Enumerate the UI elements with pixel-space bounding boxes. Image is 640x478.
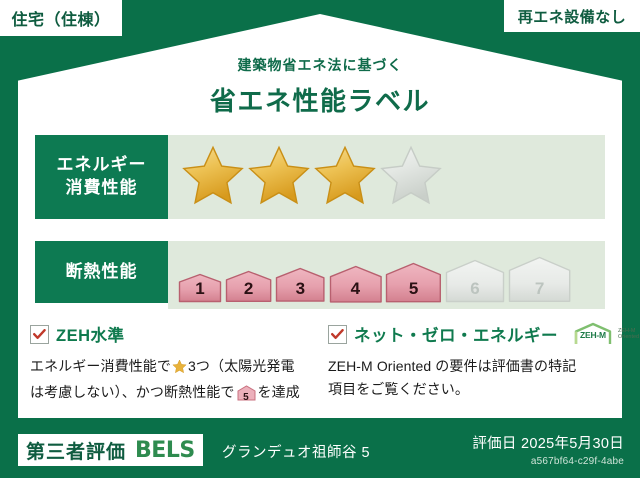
insulation-grade-number: 4 <box>329 279 383 299</box>
insulation-grade-number: 1 <box>178 279 222 299</box>
nze-note-body: ZEH-M Oriented の要件は評価書の特記項目をご覧ください。 <box>328 355 606 400</box>
insulation-grade-number: 6 <box>445 279 505 299</box>
bels-jp-text: 第三者評価 <box>26 437 126 464</box>
insulation-label-line1: 断熱性能 <box>66 261 138 284</box>
star-filled-icon <box>248 144 310 211</box>
insulation-grade-5: 5 <box>385 262 442 303</box>
bels-badge: 第三者評価 BELS <box>18 434 203 466</box>
insulation-performance-label: 断熱性能 <box>35 241 168 303</box>
checkmark-glyph <box>331 329 344 340</box>
energy-performance-label: 住宅（住棟） 再エネ設備なし 建築物省エネ法に基づく 省エネ性能ラベル エネルギ… <box>0 0 640 478</box>
insulation-grade-2: 2 <box>225 270 272 303</box>
inline-grade-house-icon: 5 <box>237 385 256 408</box>
zeh-note-text-4: を達成 <box>258 384 300 400</box>
zeh-m-logo: ZEH-M ZEH-M Oriented <box>570 322 639 346</box>
inline-star-icon <box>172 361 187 377</box>
star-empty-icon <box>380 144 442 211</box>
title-main: 省エネ性能ラベル <box>0 81 640 118</box>
zeh-note-body: エネルギー消費性能で3つ（太陽光発電は考慮しない）、かつ断熱性能で5を達成 <box>30 355 308 407</box>
insulation-grade-number: 2 <box>225 279 272 299</box>
energy-performance-label: エネルギー 消費性能 <box>35 135 168 219</box>
energy-performance-row: エネルギー 消費性能 <box>35 135 605 219</box>
nze-note-line1: ZEH-M Oriented の要件は評価書の特記 <box>328 358 576 374</box>
evaluation-date: 評価日 2025年5月30日 <box>472 432 624 453</box>
net-zero-energy-note: ネット・ゼロ・エネルギー ZEH-M ZEH-M Oriented ZEH-M … <box>328 322 606 400</box>
building-name: グランデュオ祖師谷 5 <box>222 441 370 462</box>
check-icon <box>328 325 347 344</box>
renewable-energy-tag: 再エネ設備なし <box>504 0 640 32</box>
insulation-grade-3: 3 <box>275 267 325 303</box>
insulation-grade-7: 7 <box>508 256 571 303</box>
insulation-grade-6: 6 <box>445 259 505 303</box>
zeh-note-text-2: 3つ（太陽光発電 <box>188 358 295 374</box>
insulation-performance-row: 断熱性能 1234567 <box>35 241 605 303</box>
energy-label-line2: 消費性能 <box>66 177 138 200</box>
title-subtitle: 建築物省エネ法に基づく <box>0 55 640 75</box>
zeh-level-note: ZEH水準 エネルギー消費性能で3つ（太陽光発電は考慮しない）、かつ断熱性能で5… <box>30 322 308 407</box>
insulation-grade-number: 5 <box>385 279 442 299</box>
evaluation-info: 評価日 2025年5月30日 a567bf64-c29f-4abe <box>472 432 624 467</box>
energy-star-rating <box>168 135 605 219</box>
zeh-note-text-1: エネルギー消費性能で <box>30 358 171 374</box>
nze-note-heading: ネット・ゼロ・エネルギー ZEH-M ZEH-M Oriented <box>328 322 606 346</box>
nze-note-title: ネット・ゼロ・エネルギー <box>354 322 558 346</box>
label-footer: 第三者評価 BELS グランデュオ祖師谷 5 評価日 2025年5月30日 a5… <box>0 422 640 478</box>
nze-note-line2: 項目をご覧ください。 <box>328 381 469 397</box>
zeh-m-logo-text: ZEH-M <box>570 330 616 340</box>
bels-en-text: BELS <box>135 438 195 463</box>
insulation-grade-number: 3 <box>275 279 325 299</box>
insulation-grade-number: 7 <box>508 279 571 299</box>
inline-grade-number: 5 <box>237 390 256 406</box>
check-icon <box>30 325 49 344</box>
zeh-note-heading: ZEH水準 <box>30 322 308 346</box>
evaluation-id: a567bf64-c29f-4abe <box>472 456 624 467</box>
insulation-grade-1: 1 <box>178 273 222 303</box>
zeh-note-text-3: は考慮しない）、かつ断熱性能で <box>30 384 235 400</box>
insulation-grade-scale: 1234567 <box>168 241 605 309</box>
zeh-note-title: ZEH水準 <box>56 322 125 346</box>
star-filled-icon <box>314 144 376 211</box>
page-title: 建築物省エネ法に基づく 省エネ性能ラベル <box>0 55 640 118</box>
zeh-m-logo-sub2: Oriented <box>618 334 639 340</box>
building-type-tag: 住宅（住棟） <box>0 0 122 36</box>
checkmark-glyph <box>33 329 46 340</box>
insulation-grade-4: 4 <box>329 265 383 303</box>
star-filled-icon <box>182 144 244 211</box>
energy-label-line1: エネルギー <box>57 154 147 177</box>
